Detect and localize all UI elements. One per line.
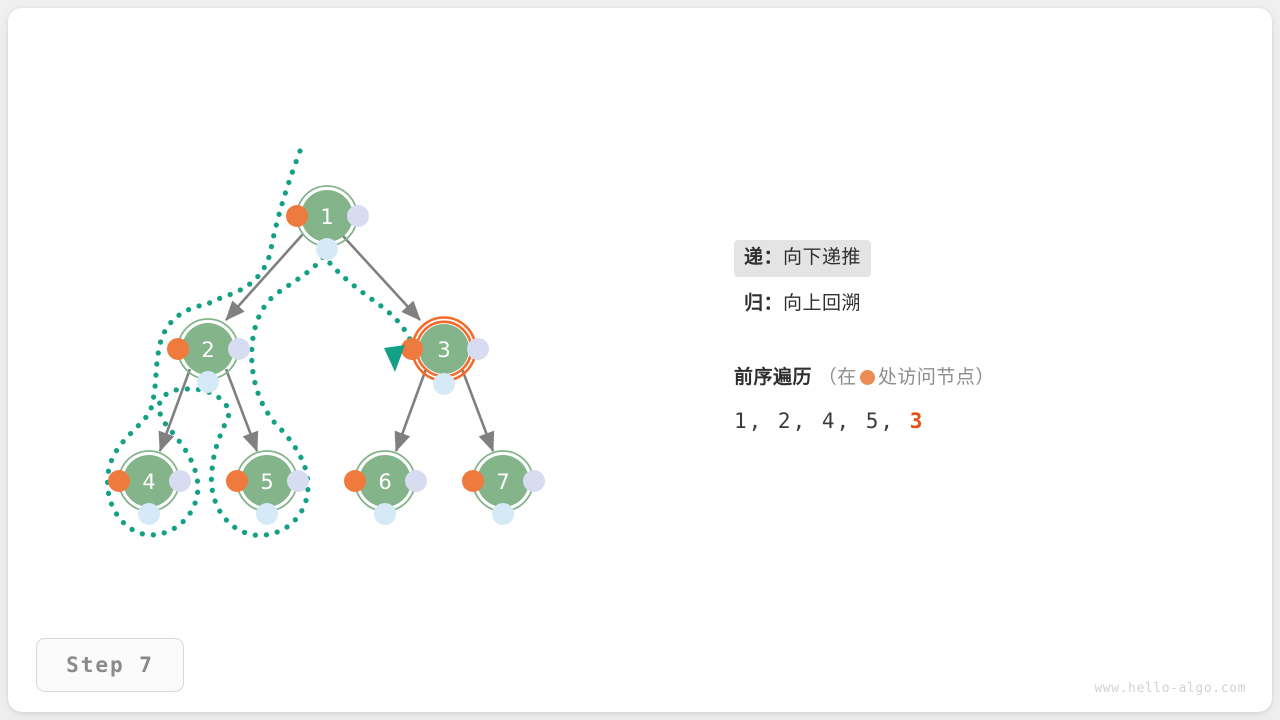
edge-3-7 [462, 369, 493, 451]
current-pointer-icon [384, 345, 405, 372]
node-7-visit-dot [462, 470, 484, 492]
edge-2-4 [160, 369, 190, 451]
node-2-label: 2 [201, 338, 214, 362]
node-7-right-dot [523, 470, 545, 492]
node-4-label: 4 [142, 470, 155, 494]
node-7-bottom-dot [492, 503, 514, 525]
legend-backtrack-value: 向上回溯 [783, 293, 861, 314]
node-2-right-dot [228, 338, 250, 360]
node-1-bottom-dot [316, 238, 338, 260]
node-6-visit-dot [344, 470, 366, 492]
tree-node-3[interactable]: 3 [384, 318, 489, 396]
tree-node-4[interactable]: 4 [108, 451, 191, 525]
node-7-label: 7 [496, 470, 509, 494]
traversal-sequence: 1, 2, 4, 5, 3 [734, 409, 1204, 433]
node-5-right-dot [287, 470, 309, 492]
visit-dot-icon [860, 370, 875, 385]
tree-node-7[interactable]: 7 [462, 451, 545, 525]
node-3-visit-dot [401, 338, 423, 360]
legend-recurse-value: 向下递推 [783, 247, 861, 268]
node-3-right-dot [467, 338, 489, 360]
traversal-note-before: （在 [818, 367, 857, 388]
node-1-right-dot [347, 205, 369, 227]
slide-card: 1 2 3 4 [8, 8, 1272, 712]
traversal-note-after: 处访问节点） [878, 367, 995, 388]
tree-node-5[interactable]: 5 [226, 451, 309, 525]
legend-recurse: 递：向下递推 [734, 240, 871, 277]
node-1-label: 1 [320, 205, 333, 229]
legend-backtrack-wrap: 归：向上回溯 [734, 286, 1204, 323]
node-3-bottom-dot [433, 373, 455, 395]
node-5-visit-dot [226, 470, 248, 492]
legend-recurse-key: 递： [744, 247, 783, 268]
node-5-bottom-dot [256, 503, 278, 525]
traversal-order-block: 前序遍历 （在处访问节点） 1, 2, 4, 5, 3 [734, 368, 1204, 433]
traversal-sequence-current: 3 [910, 409, 925, 433]
tree-node-6[interactable]: 6 [344, 451, 427, 525]
node-4-right-dot [169, 470, 191, 492]
node-3-label: 3 [437, 338, 450, 362]
node-6-right-dot [405, 470, 427, 492]
node-2-visit-dot [167, 338, 189, 360]
node-4-bottom-dot [138, 503, 160, 525]
node-1-visit-dot [286, 205, 308, 227]
info-panel: 递：向下递推 归：向上回溯 前序遍历 （在处访问节点） 1, 2, 4, 5, … [734, 240, 1204, 433]
node-6-bottom-dot [374, 503, 396, 525]
traversal-order-title: 前序遍历 （在处访问节点） [734, 368, 1204, 387]
node-4-visit-dot [108, 470, 130, 492]
legend-backtrack: 归：向上回溯 [734, 286, 871, 323]
tree-node-2[interactable]: 2 [167, 319, 250, 393]
edge-3-6 [396, 369, 426, 451]
legend-backtrack-key: 归： [744, 293, 783, 314]
node-2-bottom-dot [197, 371, 219, 393]
traversal-type-label: 前序遍历 [734, 367, 812, 388]
site-watermark: www.hello-algo.com [1094, 681, 1246, 696]
traversal-sequence-prefix: 1, 2, 4, 5, [734, 409, 895, 433]
node-6-label: 6 [378, 470, 391, 494]
step-badge: Step 7 [36, 638, 184, 692]
node-5-label: 5 [260, 470, 273, 494]
